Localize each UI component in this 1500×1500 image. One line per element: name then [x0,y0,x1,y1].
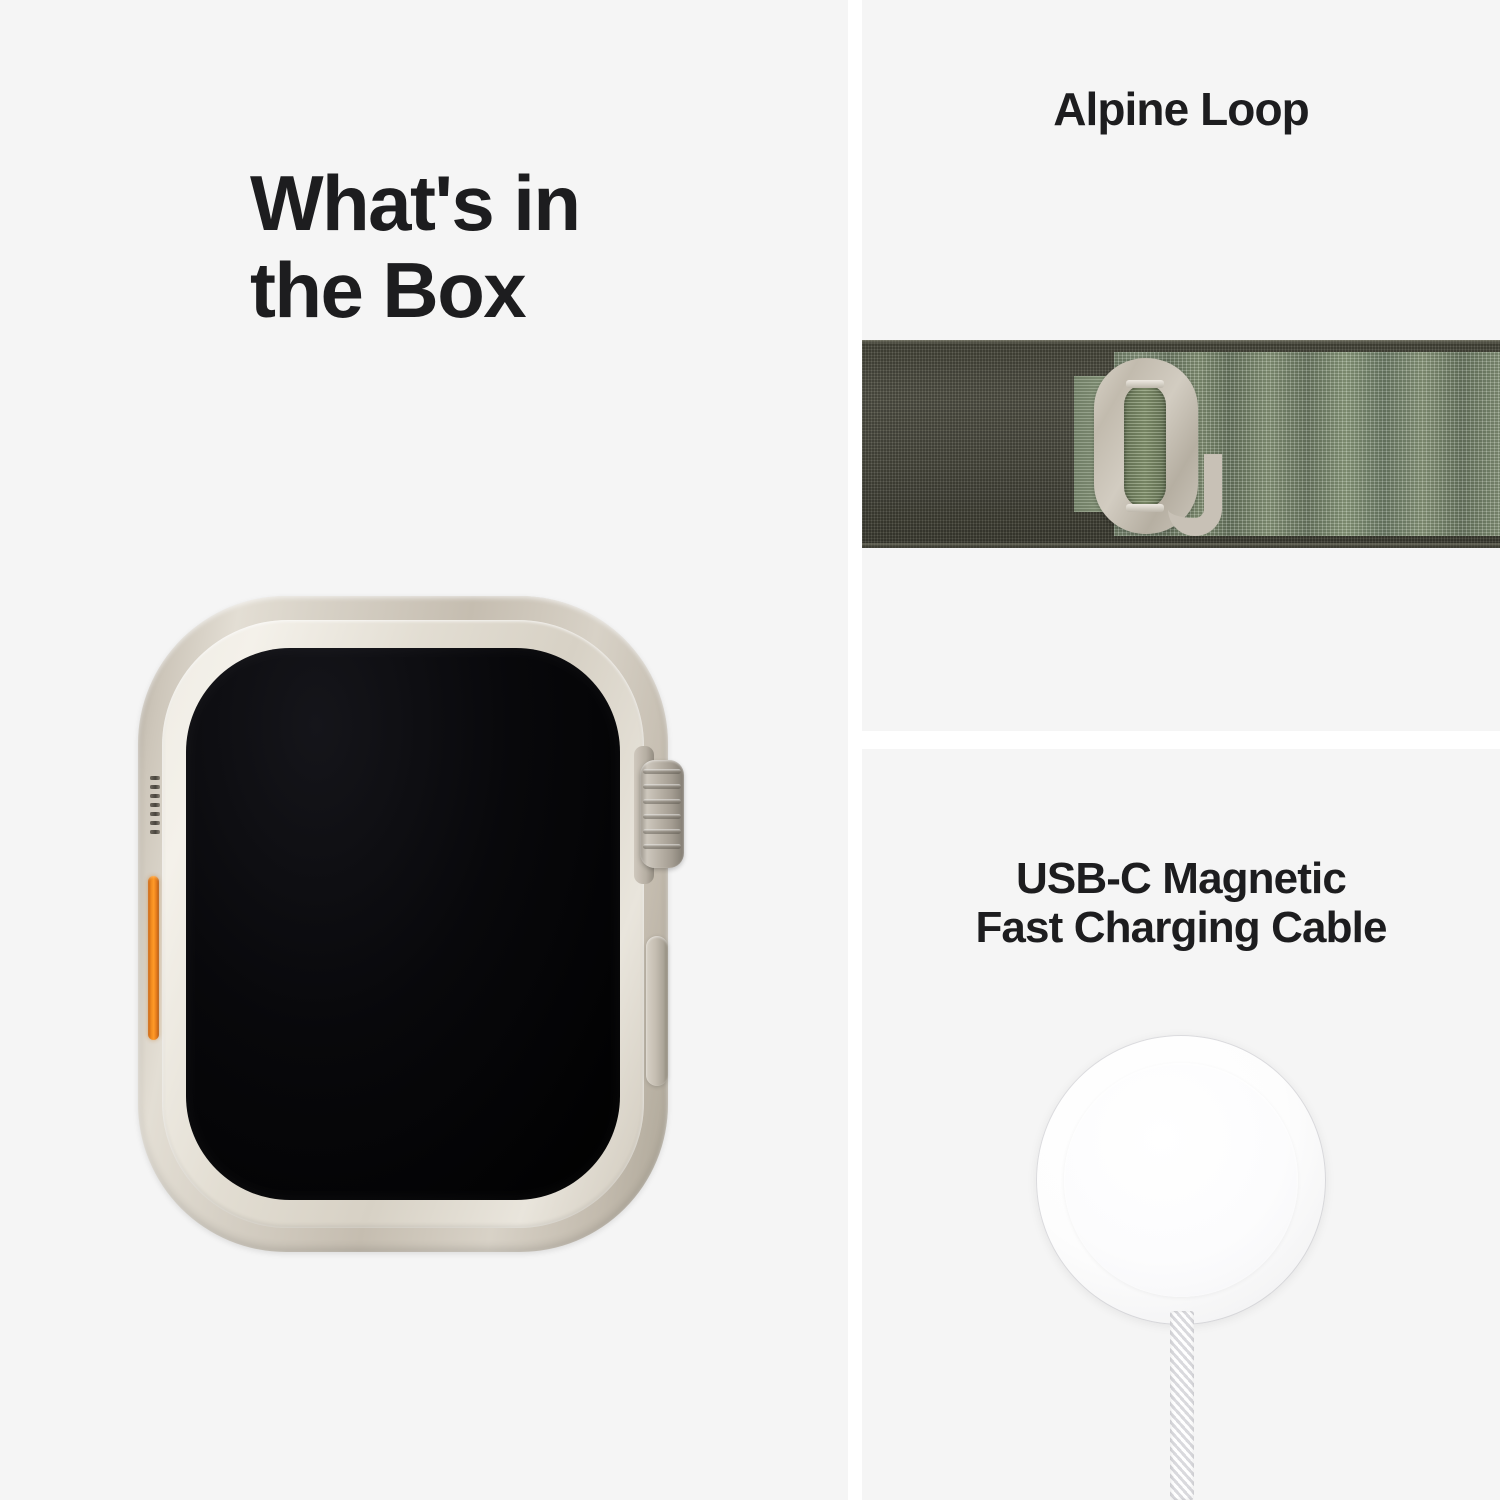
page-title-line-1: What's in [250,159,580,247]
alpine-loop-title: Alpine Loop [862,84,1500,136]
side-button [646,936,668,1086]
buckle-hook [1168,454,1222,536]
charging-cable-title-line-2: Fast Charging Cable [862,903,1500,952]
speaker-grille-icon [148,776,164,838]
magnetic-charger-image [862,1035,1500,1500]
charger-puck [1036,1035,1326,1325]
whats-in-the-box-page: What's inthe Box [0,0,1500,1500]
band-edge-bottom [862,543,1500,548]
digital-crown [640,760,684,868]
watch-panel: What's inthe Box [0,0,848,1500]
buckle-pin-bottom [1126,504,1164,512]
page-title-line-2: the Box [250,246,525,334]
buckle-slot [1124,384,1166,508]
action-button [148,876,159,1040]
charging-cable-title: USB-C MagneticFast Charging Cable [862,854,1500,953]
buckle-pin-top [1126,380,1164,388]
alpine-loop-panel: Alpine Loop [862,0,1500,731]
braided-charging-cable [1170,1311,1194,1500]
page-title: What's inthe Box [250,160,750,335]
g-hook-buckle [1094,358,1222,534]
alpine-loop-band-image [862,340,1500,548]
watch-display [186,648,620,1200]
charging-cable-panel: USB-C MagneticFast Charging Cable [862,749,1500,1500]
band-edge-top [862,340,1500,345]
charging-cable-title-line-1: USB-C Magnetic [862,854,1500,903]
charger-puck-inner-ring [1064,1063,1298,1297]
apple-watch-ultra-image [138,596,698,1252]
